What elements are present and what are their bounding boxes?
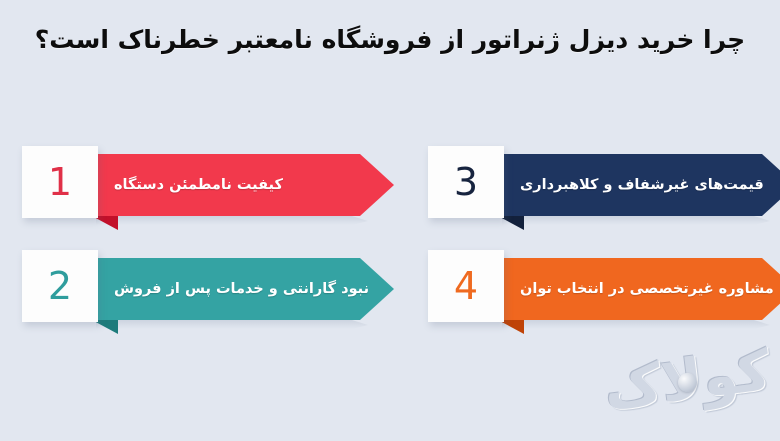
item-number-box: 4 <box>428 250 504 322</box>
item-number: 2 <box>48 267 72 305</box>
item-number-box: 1 <box>22 146 98 218</box>
list-item: نبود گارانتی و خدمات پس از فروش 2 <box>22 250 394 334</box>
ribbon-fold <box>498 216 524 230</box>
page-title: چرا خرید دیزل ژنراتور از فروشگاه نامعتبر… <box>0 22 780 58</box>
list-item: قیمت‌های غیرشفاف و کلاهبرداری 3 <box>428 146 780 230</box>
infographic-canvas: چرا خرید دیزل ژنراتور از فروشگاه نامعتبر… <box>0 0 780 441</box>
arrow-shadow <box>96 216 368 225</box>
item-number: 3 <box>454 163 478 201</box>
arrow-shadow <box>502 320 770 329</box>
item-label: نبود گارانتی و خدمات پس از فروش <box>108 258 354 320</box>
arrow-shadow <box>502 216 770 225</box>
brand-watermark: کولاک <box>612 337 762 423</box>
item-label: مشاوره غیرتخصصی در انتخاب توان <box>514 258 766 320</box>
ribbon-fold <box>92 216 118 230</box>
arrow-shadow <box>96 320 368 329</box>
watermark-text: کولاک <box>607 328 766 432</box>
item-number: 4 <box>454 267 478 305</box>
list-item: کیفیت نامطمئن دستگاه 1 <box>22 146 394 230</box>
ribbon-fold <box>498 320 524 334</box>
item-number: 1 <box>48 163 72 201</box>
list-item: مشاوره غیرتخصصی در انتخاب توان 4 <box>428 250 780 334</box>
item-label: قیمت‌های غیرشفاف و کلاهبرداری <box>514 154 766 216</box>
ribbon-fold <box>92 320 118 334</box>
watermark-sphere-icon <box>678 373 697 392</box>
item-number-box: 3 <box>428 146 504 218</box>
item-number-box: 2 <box>22 250 98 322</box>
item-label: کیفیت نامطمئن دستگاه <box>108 154 354 216</box>
